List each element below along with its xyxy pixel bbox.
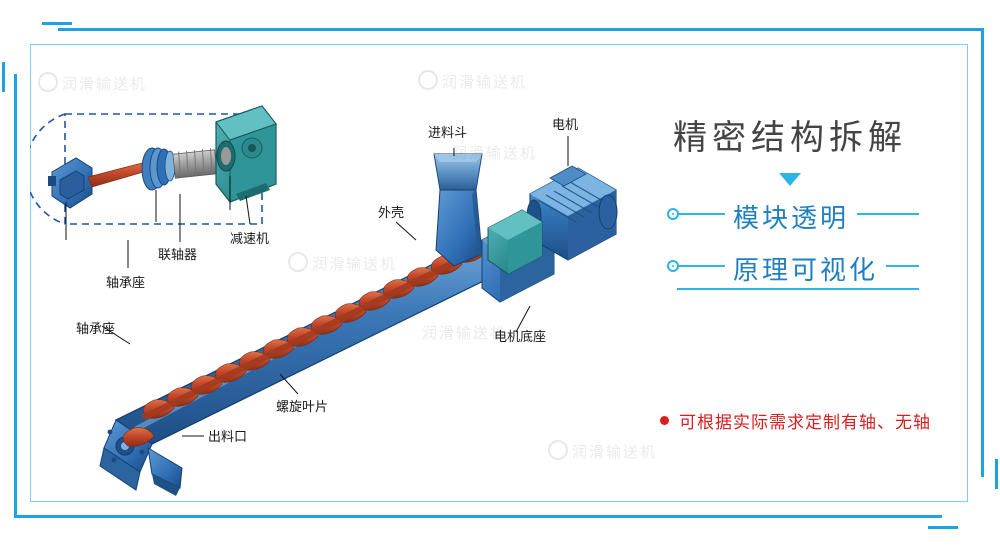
label-motor: 电机	[552, 114, 578, 133]
label-bearing-seat-bottom: 轴承座	[76, 318, 115, 337]
inset-reducer	[216, 106, 276, 202]
inset-coupling	[142, 148, 175, 190]
corner-notch-bottom-right-vertical	[980, 477, 996, 531]
exploded-detail-inset	[30, 106, 276, 240]
screenshot-root: 进料斗 电机 外壳 减速机 联轴器 轴承座 轴承座 螺旋叶片 出料口 电机底座 …	[0, 0, 1000, 551]
screw-conveyor-diagram: 进料斗 电机 外壳 减速机 联轴器 轴承座 轴承座 螺旋叶片 出料口 电机底座	[30, 44, 630, 502]
corner-accent-top	[42, 22, 72, 25]
arrow-down-icon	[779, 173, 801, 186]
inset-shaft	[88, 162, 150, 187]
inset-bearing-seat	[48, 158, 92, 208]
note-text: 可根据实际需求定制有轴、无轴	[679, 408, 931, 433]
feature-row-1: 模块透明	[615, 192, 965, 244]
right-text-panel: 精密结构拆解 模块透明 原理可视化	[615, 110, 965, 296]
feature-label-1: 模块透明	[725, 198, 857, 235]
label-motor-base: 电机底座	[494, 326, 546, 345]
label-coupling: 联轴器	[158, 244, 197, 263]
label-screw-blade: 螺旋叶片	[276, 396, 328, 415]
feature-row-2: 原理可视化	[615, 244, 965, 296]
screw-blades	[140, 244, 486, 420]
custom-note: 可根据实际需求定制有轴、无轴	[660, 408, 980, 433]
corner-accent-left	[2, 62, 5, 92]
label-bearing-seat-top: 轴承座	[106, 272, 145, 291]
label-shell: 外壳	[378, 202, 404, 221]
note-bullet-icon	[660, 416, 669, 425]
feature-rule-bottom	[677, 288, 919, 290]
label-feed-hopper: 进料斗	[428, 122, 467, 141]
corner-accent-bottom	[928, 526, 958, 529]
label-discharge-outlet: 出料口	[208, 426, 247, 445]
label-reducer: 减速机	[230, 228, 269, 247]
corner-notch-top-left-vertical	[4, 20, 20, 74]
headline: 精密结构拆解	[615, 110, 965, 159]
feed-hopper	[434, 154, 482, 266]
feature-label-2: 原理可视化	[725, 250, 886, 287]
corner-accent-right	[995, 459, 998, 489]
inset-spline-shaft	[173, 148, 217, 178]
discharge-outlet	[148, 448, 182, 496]
